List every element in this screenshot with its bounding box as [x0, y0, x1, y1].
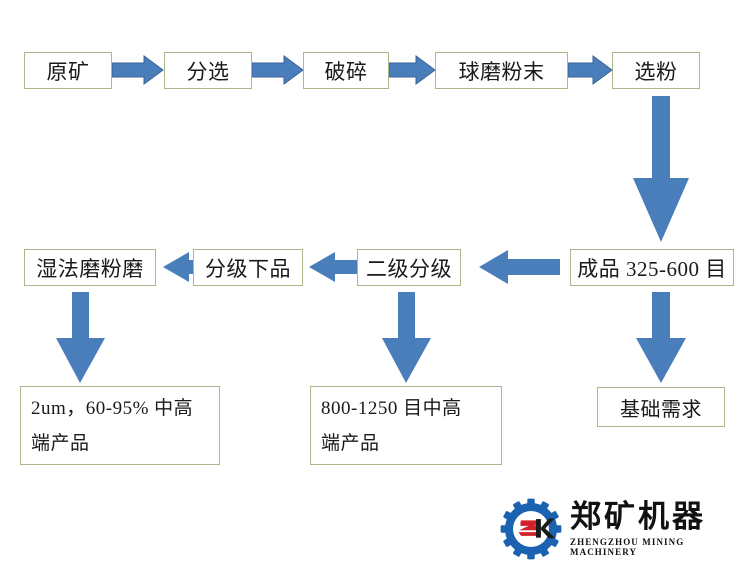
arrow-finished-to-secondary	[479, 250, 560, 284]
node-label: 选粉	[635, 56, 678, 86]
node-secondary-grading[interactable]: 二级分级	[357, 249, 461, 286]
node-fine-product[interactable]: 800-1250 目中高 端产品	[310, 386, 502, 465]
node-label-line1: 2um，60-95% 中高	[31, 391, 209, 426]
node-ultrafine-product[interactable]: 2um，60-95% 中高 端产品	[20, 386, 220, 465]
arrow-raw-to-sorting	[112, 56, 163, 84]
node-crushing[interactable]: 破碎	[303, 52, 389, 89]
arrow-finished-to-basic	[636, 292, 686, 383]
node-finished-product[interactable]: 成品 325-600 目	[570, 249, 734, 286]
node-label: 破碎	[325, 56, 368, 86]
node-ball-milling[interactable]: 球磨粉末	[435, 52, 568, 89]
company-name-cn: 郑矿机器	[570, 501, 748, 534]
arrow-secondary-to-fines	[309, 252, 363, 282]
node-label: 分选	[187, 56, 230, 86]
arrow-selection-to-finished	[633, 96, 689, 242]
node-label: 分级下品	[205, 253, 291, 283]
node-wet-grinding[interactable]: 湿法磨粉磨	[24, 249, 156, 286]
arrow-sorting-to-crushing	[252, 56, 303, 84]
arrow-secondary-to-fine	[382, 292, 431, 383]
node-sorting[interactable]: 分选	[164, 52, 252, 89]
zk-gear-icon	[500, 498, 562, 560]
arrow-crushing-to-milling	[389, 56, 435, 84]
node-label: 成品 325-600 目	[577, 253, 727, 283]
arrow-wet-to-ultrafine	[56, 292, 105, 383]
node-label: 球磨粉末	[459, 56, 545, 86]
node-label-line2: 端产品	[321, 426, 491, 461]
node-label: 原矿	[47, 56, 90, 86]
company-logo: 郑矿机器 ZHENGZHOU MINING MACHINERY	[500, 498, 748, 560]
node-raw-ore[interactable]: 原矿	[24, 52, 112, 89]
logo-wordmark: 郑矿机器 ZHENGZHOU MINING MACHINERY	[570, 501, 748, 557]
node-powder-selection[interactable]: 选粉	[612, 52, 700, 89]
node-label-line2: 端产品	[31, 426, 209, 461]
node-basic-demand[interactable]: 基础需求	[597, 387, 725, 427]
company-name-en: ZHENGZHOU MINING MACHINERY	[570, 537, 748, 557]
node-label: 二级分级	[366, 253, 452, 283]
arrow-milling-to-selection	[568, 56, 612, 84]
flowchart-canvas: 原矿 分选 破碎 球磨粉末 选粉 湿法磨粉磨 分级下品 二级分级 成品 325-…	[0, 0, 750, 562]
node-label: 湿法磨粉磨	[36, 253, 144, 283]
node-classified-fines[interactable]: 分级下品	[193, 249, 303, 286]
node-label: 基础需求	[620, 393, 702, 422]
node-label-line1: 800-1250 目中高	[321, 391, 491, 426]
